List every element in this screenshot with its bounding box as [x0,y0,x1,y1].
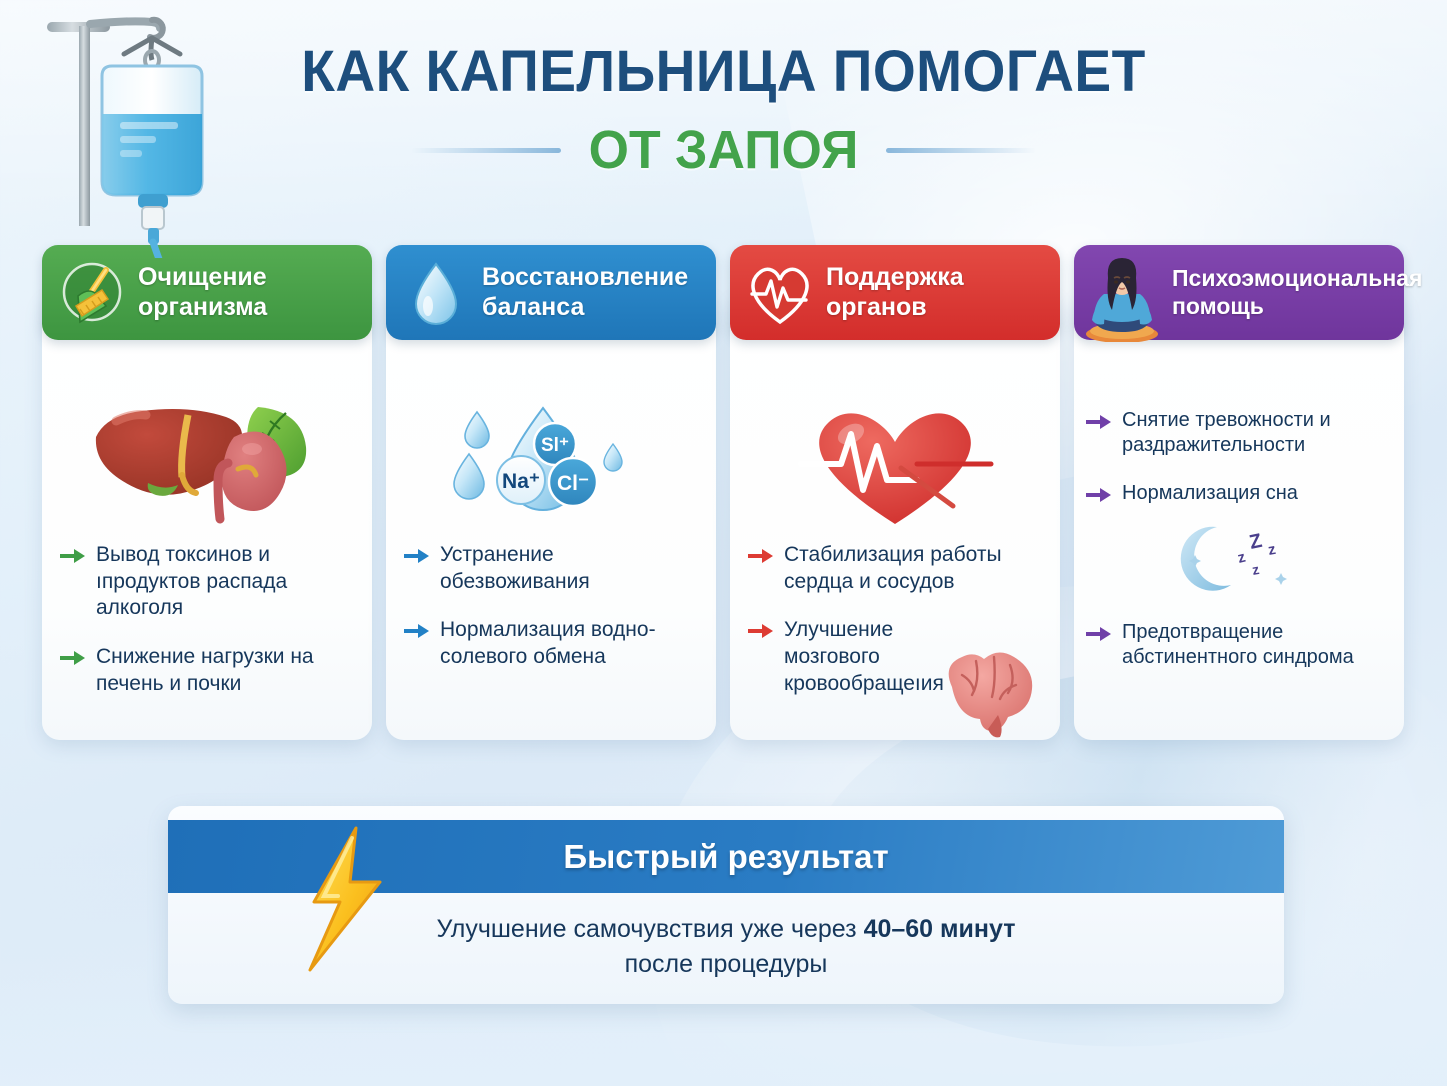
meditating-woman-icon [1082,254,1162,332]
card-title-line2: помощь [1172,293,1422,320]
arrow-right-icon [1086,625,1112,648]
ion-top-label: Sl⁺ [541,435,569,456]
benefit-cards: Очищение организма [42,245,1407,740]
svg-text:Z: Z [1247,530,1264,554]
card-bullets: Снятие тревожности и раздражительности Н… [1074,408,1404,671]
result-banner: Быстрый результат Улучшение самочувствия… [168,806,1284,1004]
water-drops-electrolytes-icon: Sl⁺ Na⁺ Cl⁻ [386,392,716,542]
water-drop-icon [400,254,472,332]
list-item: Нормализация сна [1086,481,1394,509]
bullet-text: Снятие тревожности и раздражительности [1122,408,1394,459]
list-item: Снижение нагрузки на печень и почки [60,644,356,697]
card-bullets: Устранение обезвоживания Нормализация во… [386,542,716,671]
card-organs[interactable]: Поддержка органов Стабилизация работы се [730,245,1060,740]
card-bullets: Стабилизация работы сердца и сосудов Улу… [730,542,1060,697]
broom-icon [56,254,128,332]
banner-line1-before: Улучшение самочувствия уже через [437,915,864,943]
bullet-text: Нормализация сна [1122,481,1298,506]
arrow-right-icon [404,547,430,570]
card-bullets: Вывод токсинов и ıпродуктов распада алко… [42,542,372,697]
card-title-line2: органов [826,293,964,323]
svg-text:z: z [1251,561,1261,578]
arrow-right-icon [748,547,774,570]
list-item: Улучшение мозгового кровообращеıия [748,617,1044,697]
bullet-text: Снижение нагрузки на печень и почки [96,644,356,697]
card-header: Психоэмоциональная помощь [1074,245,1404,340]
ion-right-label: Cl⁻ [557,472,589,495]
ion-left-label: Na⁺ [502,470,540,493]
card-title: Очищение организма [138,263,267,322]
list-item: Стабилизация работы сердца и сосудов [748,542,1044,595]
heart-ecg-icon [730,392,1060,542]
svg-text:z: z [1267,541,1277,559]
card-balance[interactable]: Восстановление баланса Sl⁺ [386,245,716,740]
title-rule-left [411,148,561,153]
arrow-right-icon [748,622,774,645]
arrow-right-icon [1086,486,1112,509]
card-header: Поддержка органов [730,245,1060,340]
arrow-right-icon [60,649,86,672]
list-item: Нормализация водно-солевого обмена [404,617,700,670]
bullet-text: Стабилизация работы сердца и сосудов [784,542,1044,595]
banner-duration: 40–60 минут [864,915,1016,943]
card-title: Восстановление баланса [482,263,688,322]
liver-kidney-leaf-icon [42,392,372,542]
lightning-bolt-icon [298,824,390,974]
list-item: Снятие тревожности и раздражительности [1086,408,1394,459]
bullet-text: Вывод токсинов и ıпродуктов распада алко… [96,542,356,622]
card-header: Очищение организма [42,245,372,340]
card-title: Поддержка органов [826,263,964,322]
brain-icon [930,639,1048,744]
arrow-right-icon [1086,413,1112,436]
card-psycho[interactable]: Психоэмоциональная помощь Снятие тревожн… [1074,245,1404,740]
list-item: Устранение обезвоживания [404,542,700,595]
card-title-line1: Психоэмоциональная [1172,265,1422,292]
card-title-line1: Поддержка [826,263,964,293]
iv-drip-icon [34,8,244,258]
card-title: Психоэмоциональная помощь [1172,265,1422,319]
card-cleansing[interactable]: Очищение организма [42,245,372,740]
card-title-line1: Восстановление [482,263,688,293]
bullet-text: Предотвращение абстинентного синдрома [1122,620,1394,671]
card-title-line2: баланса [482,293,688,323]
card-title-line2: организма [138,293,267,323]
title-sub: ОТ ЗАПОЯ [589,119,859,181]
bullet-text: Нормализация водно-солевого обмена [440,617,700,670]
card-header: Восстановление баланса [386,245,716,340]
arrow-right-icon [404,622,430,645]
banner-title: Быстрый результат [563,838,888,876]
heart-pulse-icon [744,254,816,332]
arrow-right-icon [60,547,86,570]
card-title-line1: Очищение [138,263,267,293]
bullet-text: Устранение обезвоживания [440,542,700,595]
title-rule-right [886,148,1036,153]
svg-text:z: z [1236,548,1247,566]
list-item: Вывод токсинов и ıпродуктов распада алко… [60,542,356,622]
list-item: Предотвращение абстинентного синдрома [1086,620,1394,671]
moon-sleep-icon: Z z z z [1086,515,1394,604]
